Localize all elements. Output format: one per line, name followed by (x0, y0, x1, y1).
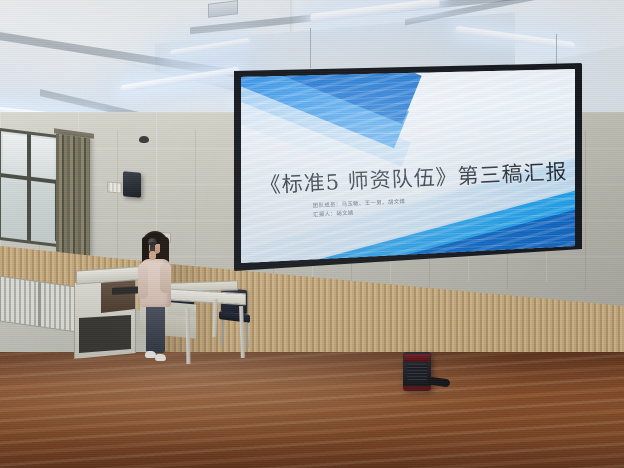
presenter-arm (160, 263, 171, 293)
pleated-curtain (56, 134, 90, 257)
presenter-arm (138, 263, 148, 299)
presenter-hand (149, 251, 156, 260)
room-photo-scene: 《标准5 师资队伍》第三稿汇报 团队成员：马玉敏、王一男、胡文婧 汇报人：胡文婧 (0, 0, 624, 468)
pa-base (403, 386, 431, 391)
presentation-slide: 《标准5 师资队伍》第三稿汇报 团队成员：马玉敏、王一男、胡文婧 汇报人：胡文婧 (241, 69, 575, 263)
portable-pa-speaker[interactable] (403, 352, 431, 390)
led-video-wall[interactable]: 《标准5 师资队伍》第三稿汇报 团队成员：马玉敏、王一男、胡文婧 汇报人：胡文婧 (241, 69, 575, 263)
radiator-divider (38, 282, 41, 326)
light-switch-panel[interactable] (107, 181, 122, 193)
presenter-shoe (155, 354, 166, 361)
window-mullion-vertical (27, 134, 31, 240)
wall-speaker (123, 171, 141, 198)
podium-side-panel (101, 279, 135, 313)
pa-control-panel (404, 354, 430, 362)
pa-speaker-grill (407, 364, 427, 380)
dome-camera-icon (139, 136, 149, 143)
screen-hanger-wire (310, 28, 311, 68)
screen-hanger-wire (556, 34, 557, 68)
presenter (137, 229, 173, 363)
presenter-legs (146, 303, 165, 353)
screen-glow (241, 69, 575, 263)
wood-laminate-floor (0, 352, 624, 468)
podium-equipment-cavity (79, 315, 131, 353)
floor-sheen (0, 352, 624, 468)
